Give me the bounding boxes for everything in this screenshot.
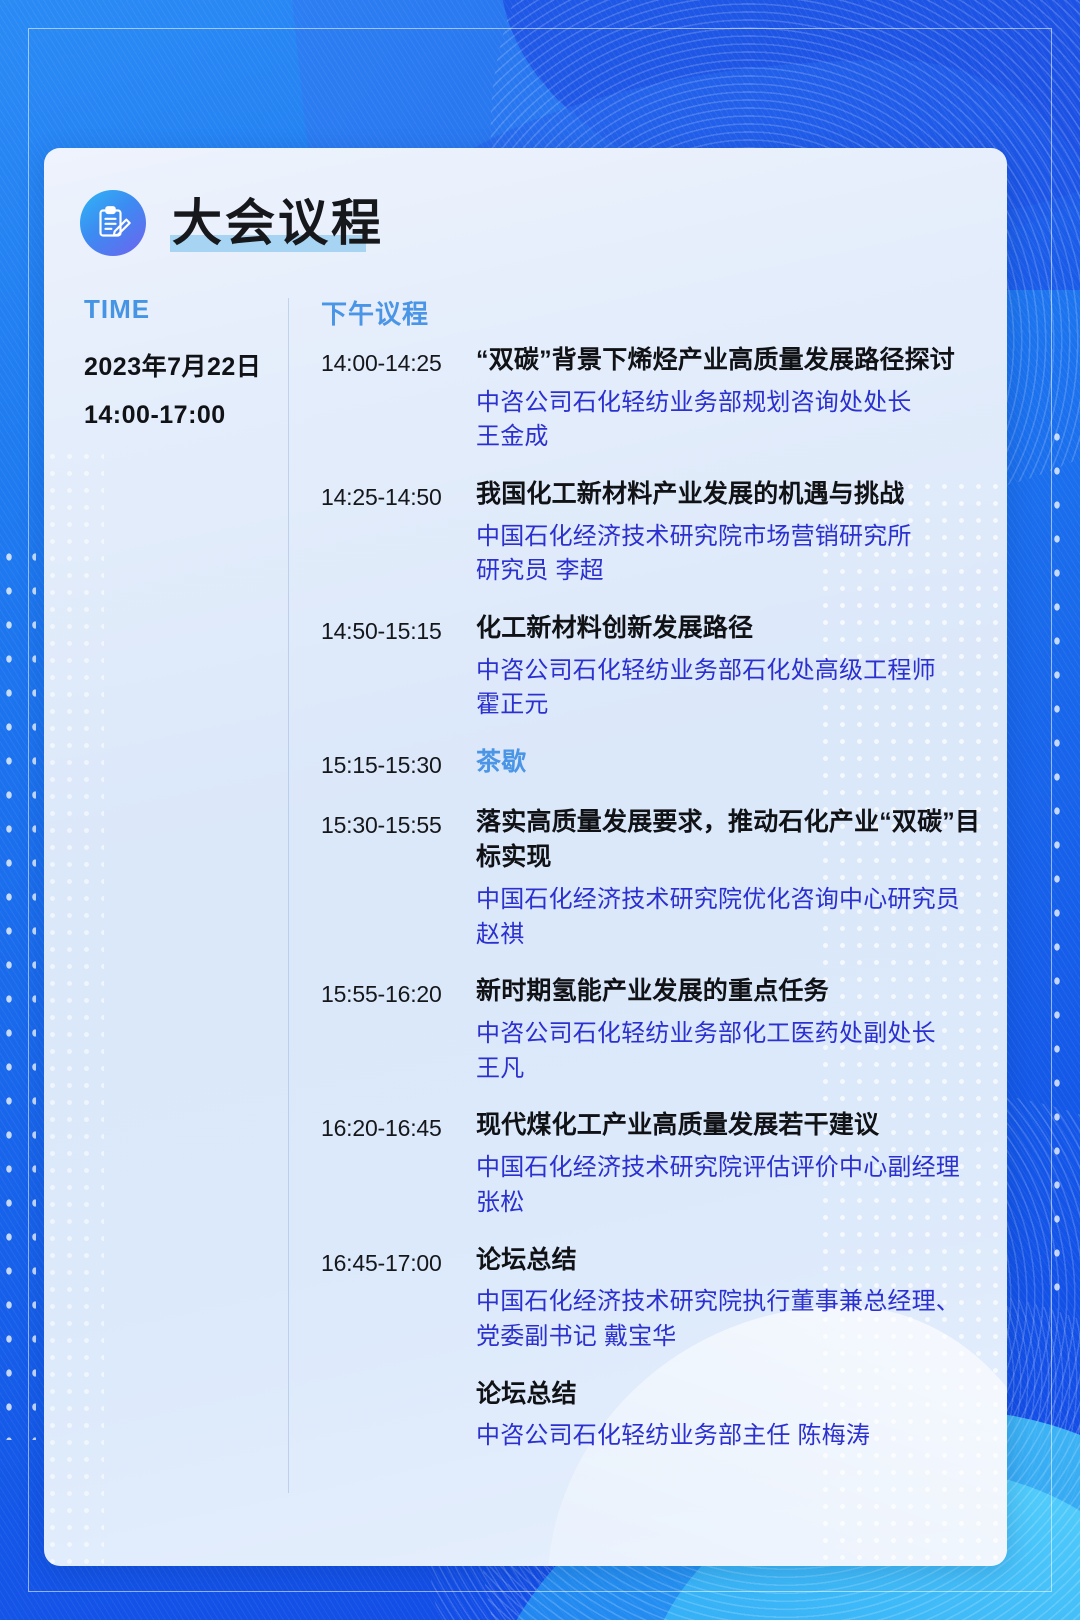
agenda-heading: 下午议程 [321,294,981,331]
agenda-row: 15:30-15:55落实高质量发展要求，推动石化产业“双碳”目标实现中国石化经… [321,805,981,953]
agenda-row-title: 新时期氢能产业发展的重点任务 [476,974,981,1010]
event-date: 2023年7月22日 [84,347,284,383]
time-label: TIME [84,294,284,325]
agenda-row-body: “双碳”背景下烯烃产业高质量发展路径探讨中咨公司石化轻纺业务部规划咨询处处长王金… [476,343,981,455]
card-dot-pattern-left [44,448,104,1566]
agenda-row-title: “双碳”背景下烯烃产业高质量发展路径探讨 [476,343,981,379]
agenda-row: 16:45-17:00论坛总结中国石化经济技术研究院执行董事兼总经理、党委副书记… [321,1243,981,1454]
agenda-row-time: 15:30-15:55 [321,805,476,953]
agenda-card: 大会议程 TIME 2023年7月22日 14:00-17:00 下午议程 14… [44,148,1007,1566]
column-divider [288,298,289,1493]
agenda-column: 下午议程 14:00-14:25“双碳”背景下烯烃产业高质量发展路径探讨中咨公司… [321,294,981,1476]
agenda-row: 15:55-16:20新时期氢能产业发展的重点任务中咨公司石化轻纺业务部化工医药… [321,974,981,1086]
agenda-row-speaker: 中咨公司石化轻纺业务部石化处高级工程师霍正元 [476,654,981,724]
agenda-row-title: 我国化工新材料产业发展的机遇与挑战 [476,477,981,513]
agenda-row-speaker: 中国石化经济技术研究院优化咨询中心研究员赵祺 [476,883,981,953]
agenda-row-speaker: 中国石化经济技术研究院执行董事兼总经理、党委副书记 戴宝华 [476,1285,981,1355]
agenda-row-speaker: 中咨公司石化轻纺业务部化工医药处副处长王凡 [476,1017,981,1087]
agenda-list: 14:00-14:25“双碳”背景下烯烃产业高质量发展路径探讨中咨公司石化轻纺业… [321,343,981,1454]
agenda-row-body: 化工新材料创新发展路径中咨公司石化轻纺业务部石化处高级工程师霍正元 [476,611,981,723]
card-header: 大会议程 [80,190,390,256]
agenda-row-time: 14:50-15:15 [321,611,476,723]
page-title-wrap: 大会议程 [166,198,390,248]
agenda-row-title: 现代煤化工产业高质量发展若干建议 [476,1108,981,1144]
page-title: 大会议程 [172,198,384,248]
agenda-row-speaker: 中国石化经济技术研究院评估评价中心副经理张松 [476,1151,981,1221]
agenda-row-body: 论坛总结中国石化经济技术研究院执行董事兼总经理、党委副书记 戴宝华论坛总结中咨公… [476,1243,981,1454]
agenda-row-time: 14:00-14:25 [321,343,476,455]
agenda-row-time: 15:55-16:20 [321,974,476,1086]
clipboard-pencil-icon [80,190,146,256]
agenda-row: 14:25-14:50我国化工新材料产业发展的机遇与挑战中国石化经济技术研究院市… [321,477,981,589]
agenda-row-speaker: 中咨公司石化轻纺业务部规划咨询处处长王金成 [476,386,981,456]
agenda-row-time: 16:20-16:45 [321,1108,476,1220]
agenda-row: 14:00-14:25“双碳”背景下烯烃产业高质量发展路径探讨中咨公司石化轻纺业… [321,343,981,455]
event-time-range: 14:00-17:00 [84,401,284,430]
agenda-row: 16:20-16:45现代煤化工产业高质量发展若干建议中国石化经济技术研究院评估… [321,1108,981,1220]
agenda-row-title: 论坛总结 [476,1243,981,1279]
agenda-row-title: 论坛总结 [476,1377,981,1413]
agenda-row-extra: 论坛总结中咨公司石化轻纺业务部主任 陈梅涛 [476,1377,981,1454]
time-column: TIME 2023年7月22日 14:00-17:00 [84,294,284,448]
agenda-row-body: 新时期氢能产业发展的重点任务中咨公司石化轻纺业务部化工医药处副处长王凡 [476,974,981,1086]
agenda-row-title: 落实高质量发展要求，推动石化产业“双碳”目标实现 [476,805,981,876]
agenda-row-speaker: 中咨公司石化轻纺业务部主任 陈梅涛 [476,1419,981,1454]
agenda-row-title: 化工新材料创新发展路径 [476,611,981,647]
dot-pattern-left [0,540,36,1440]
agenda-row-body: 茶歇 [476,745,981,783]
agenda-row-title: 茶歇 [476,745,981,781]
agenda-row-time: 14:25-14:50 [321,477,476,589]
agenda-row: 14:50-15:15化工新材料创新发展路径中咨公司石化轻纺业务部石化处高级工程… [321,611,981,723]
agenda-row: 15:15-15:30茶歇 [321,745,981,783]
agenda-row-body: 落实高质量发展要求，推动石化产业“双碳”目标实现中国石化经济技术研究院优化咨询中… [476,805,981,953]
poster-root: 大会议程 TIME 2023年7月22日 14:00-17:00 下午议程 14… [0,0,1080,1620]
agenda-row-speaker: 中国石化经济技术研究院市场营销研究所研究员 李超 [476,520,981,590]
agenda-row-time: 15:15-15:30 [321,745,476,783]
agenda-row-body: 现代煤化工产业高质量发展若干建议中国石化经济技术研究院评估评价中心副经理张松 [476,1108,981,1220]
agenda-row-body: 我国化工新材料产业发展的机遇与挑战中国石化经济技术研究院市场营销研究所研究员 李… [476,477,981,589]
agenda-row-time: 16:45-17:00 [321,1243,476,1454]
